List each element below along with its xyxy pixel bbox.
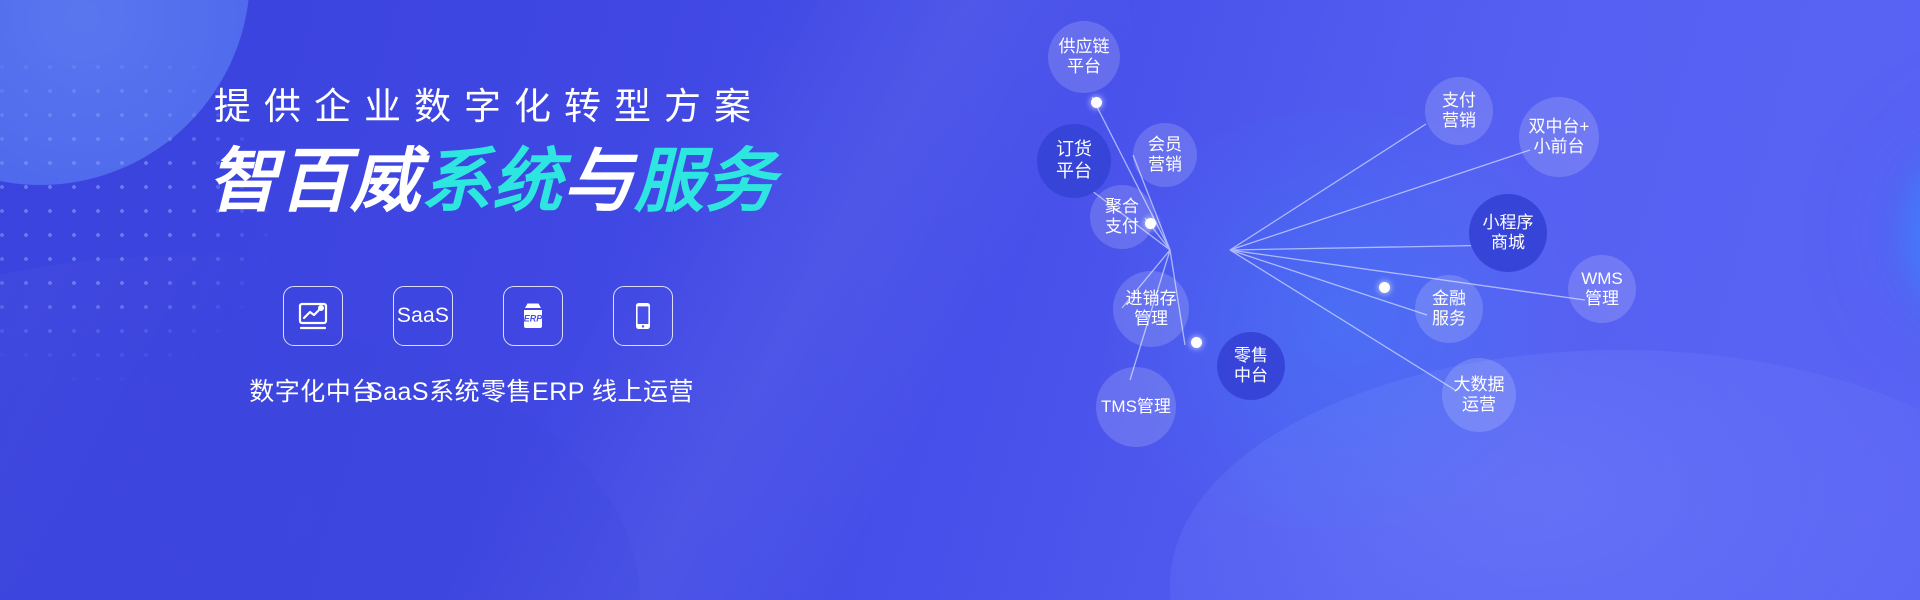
headline-block: 提供企业数字化转型方案 智百威系统与服务 <box>208 84 848 221</box>
diagram-node-label-line: 平台 <box>1067 57 1101 76</box>
page-title: 智百威系统与服务 <box>208 142 848 220</box>
diagram-node[interactable]: 支付营销 <box>1425 77 1493 145</box>
page-title-part-1: 系统 <box>421 140 563 222</box>
diagram-node-label-line: 支付 <box>1105 217 1139 236</box>
diagram-node-label-line: 营销 <box>1442 111 1476 130</box>
feature-item[interactable]: ERP零售ERP <box>478 286 588 408</box>
diagram-node[interactable]: 金融服务 <box>1415 275 1483 343</box>
diagram-node-label-line: 支付 <box>1442 91 1476 110</box>
diagram-connector-dot <box>1379 282 1390 293</box>
feature-label: SaaS系统 <box>366 372 480 408</box>
diagram-node[interactable]: WMS管理 <box>1568 255 1636 323</box>
diagram-node-label-line: 零售 <box>1234 346 1268 365</box>
page-title-part-3: 服务 <box>634 140 776 222</box>
promo-banner: 提供企业数字化转型方案 智百威系统与服务 数字化中台SaaSSaaS系统ERP零… <box>0 0 1920 600</box>
diagram-node-label: 会员营销 <box>1148 135 1182 176</box>
ecosystem-diagram: 智百威 系统 <box>830 0 1920 600</box>
diagram-node-label-line: 商城 <box>1491 233 1525 252</box>
diagram-node-label-line: TMS管理 <box>1101 397 1171 416</box>
feature-item[interactable]: 线上运营 <box>588 286 698 408</box>
diagram-node[interactable]: 大数据运营 <box>1442 358 1516 432</box>
erp-box-icon[interactable]: ERP <box>503 286 563 346</box>
diagram-node-label-line: 平台 <box>1056 161 1092 181</box>
diagram-node-label-line: 运营 <box>1462 395 1496 414</box>
diagram-node-label-line: 聚合 <box>1105 197 1139 216</box>
diagram-node[interactable]: TMS管理 <box>1096 367 1176 447</box>
diagram-connector-lines <box>830 0 1920 600</box>
diagram-node-label-line: 大数据 <box>1454 375 1505 394</box>
saas-icon-text: SaaS <box>397 304 449 328</box>
diagram-node-label-line: WMS <box>1581 269 1623 288</box>
page-title-part-0: 智百威 <box>208 140 421 222</box>
feature-label: 线上运营 <box>592 372 694 408</box>
diagram-node-label-line: 供应链 <box>1059 37 1110 56</box>
feature-list: 数字化中台SaaSSaaS系统ERP零售ERP线上运营 <box>258 286 698 408</box>
diagram-node-label-line: 会员 <box>1148 135 1182 154</box>
diagram-node-label: 金融服务 <box>1432 289 1466 330</box>
diagram-node[interactable]: 双中台+小前台 <box>1519 97 1599 177</box>
diagram-node-label: 聚合支付 <box>1105 197 1139 238</box>
diagram-node-label-line: 管理 <box>1585 289 1619 308</box>
feature-label: 数字化中台 <box>249 372 377 408</box>
diagram-node-label-line: 双中台+ <box>1529 117 1590 136</box>
feature-item[interactable]: 数字化中台 <box>258 286 368 408</box>
diagram-node-label: 大数据运营 <box>1454 375 1505 416</box>
diagram-node-label-line: 营销 <box>1148 155 1182 174</box>
diagram-node-label-line: 管理 <box>1134 309 1168 328</box>
svg-text:ERP: ERP <box>524 314 544 324</box>
diagram-connector-dot <box>1191 337 1202 348</box>
diagram-node-label-line: 中台 <box>1234 366 1268 385</box>
chart-image-icon[interactable] <box>283 286 343 346</box>
diagram-node-label: 零售中台 <box>1234 346 1268 387</box>
diagram-node[interactable]: 会员营销 <box>1133 123 1197 187</box>
diagram-node-label-line: 小前台 <box>1534 137 1585 156</box>
saas-text-icon[interactable]: SaaS <box>393 286 453 346</box>
diagram-node[interactable]: 小程序商城 <box>1469 194 1547 272</box>
feature-item[interactable]: SaaSSaaS系统 <box>368 286 478 408</box>
feature-label: 零售ERP <box>481 372 585 408</box>
diagram-node-label-line: 小程序 <box>1483 213 1534 232</box>
mobile-phone-icon[interactable] <box>613 286 673 346</box>
diagram-node-label: 双中台+小前台 <box>1529 117 1590 158</box>
diagram-node-label: WMS管理 <box>1581 269 1623 310</box>
diagram-node-label: 订货平台 <box>1056 139 1092 182</box>
page-title-part-2: 与 <box>563 140 634 222</box>
diagram-node[interactable]: 供应链平台 <box>1048 21 1120 93</box>
diagram-node[interactable]: 零售中台 <box>1217 332 1285 400</box>
diagram-node-label-line: 订货 <box>1056 139 1092 159</box>
diagram-node[interactable]: 聚合支付 <box>1090 185 1154 249</box>
diagram-node[interactable]: 订货平台 <box>1037 124 1111 198</box>
diagram-node-label-line: 进销存 <box>1126 289 1177 308</box>
diagram-node-label: 供应链平台 <box>1059 37 1110 78</box>
diagram-node[interactable]: 进销存管理 <box>1113 271 1189 347</box>
diagram-node-label: 支付营销 <box>1442 91 1476 132</box>
diagram-node-label: TMS管理 <box>1101 397 1171 417</box>
diagram-connector-dot <box>1145 218 1156 229</box>
diagram-connector-dot <box>1091 97 1102 108</box>
diagram-node-label: 进销存管理 <box>1126 289 1177 330</box>
diagram-node-label-line: 服务 <box>1432 309 1466 328</box>
diagram-node-label-line: 金融 <box>1432 289 1466 308</box>
subheadline: 提供企业数字化转型方案 <box>208 84 848 130</box>
diagram-node-label: 小程序商城 <box>1483 213 1534 254</box>
